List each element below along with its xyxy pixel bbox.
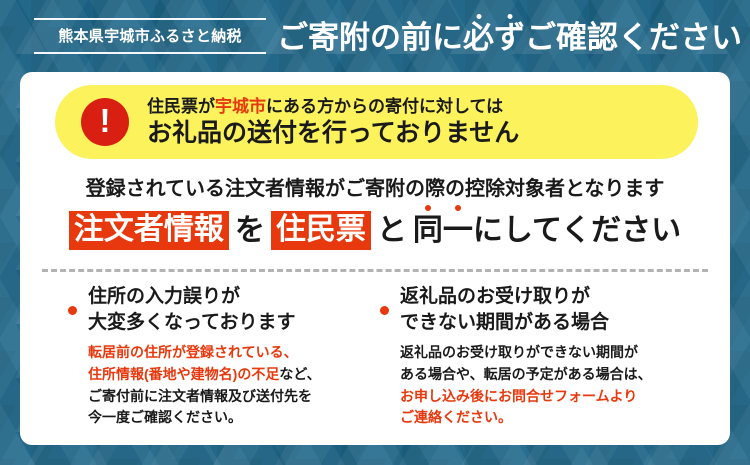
alert-line-1-highlight: 宇城市 [215, 97, 266, 116]
alert-line-1-pre: 住民票が [147, 97, 215, 116]
header-rule-bottom [34, 52, 266, 54]
notice-detail-line: ご連絡ください。 [400, 407, 730, 429]
notice-detail-text: ご連絡ください。 [400, 409, 512, 425]
notice-detail-text: 返礼品のお受け取りができない期間が [400, 344, 638, 360]
page-title-emphasis-1: 必 [463, 22, 494, 53]
notice-detail-suffix: など、 [279, 366, 320, 382]
bullet-dot-icon [68, 306, 77, 315]
notice-detail-text: ご寄付前に注文者情報及び送付先を [88, 388, 312, 404]
notice-detail-text: 住所情報(番地や建物名)の不足 [88, 366, 279, 382]
notice-column-address-error: 住所の入力誤りが 大変多くなっております 転居前の住所が登録されている、 住所情… [20, 284, 372, 429]
notice-detail-text: お申し込み後にお問合せフォームより [400, 388, 637, 404]
notice-detail-text: ある場合や、転居の予定がある場合は、 [400, 366, 652, 382]
page-title-pre: ご寄附の前に [277, 20, 463, 55]
notice-heading-line-2: できない期間がある場合 [400, 310, 730, 336]
notice-detail-text: 今一度ご確認ください。 [88, 409, 242, 425]
statement-group: 登録されている注文者情報がご寄附の際の控除対象者となります 注文者情報を住民票と… [20, 172, 730, 250]
page-title-emphasis-2: ず [494, 22, 525, 53]
alert-line-1: 住民票が宇城市にある方からの寄付に対しては [147, 96, 519, 117]
statement-tail-pre: と [371, 214, 413, 247]
notice-detail-line: ご寄付前に注文者情報及び送付先を [88, 386, 372, 408]
statement-highlight-box-1: 注文者情報 [69, 211, 229, 250]
content-card: ! 住民票が宇城市にある方からの寄付に対しては お礼品の送付を行っておりません … [20, 72, 730, 445]
exclamation-icon: ! [81, 98, 129, 146]
alert-banner: ! 住民票が宇城市にある方からの寄付に対しては お礼品の送付を行っておりません [55, 85, 698, 159]
notice-column-body: 返礼品のお受け取りが できない期間がある場合 返礼品のお受け取りができない期間が… [400, 284, 730, 429]
page-title: ご寄附の前に必ずご確認ください [277, 22, 742, 53]
page-title-post: ご確認ください [525, 20, 742, 55]
alert-text-group: 住民票が宇城市にある方からの寄付に対しては お礼品の送付を行っておりません [147, 96, 519, 148]
notice-heading: 返礼品のお受け取りが できない期間がある場合 [400, 284, 730, 335]
notice-detail-line: 返礼品のお受け取りができない期間が [400, 342, 730, 364]
notice-detail-line: 今一度ご確認ください。 [88, 407, 372, 429]
statement-highlight-box-2: 住民票 [271, 211, 371, 250]
notice-column-body: 住所の入力誤りが 大変多くなっております 転居前の住所が登録されている、 住所情… [88, 284, 372, 429]
header: 熊本県宇城市ふるさと納税 ご寄附の前に必ずご確認ください [0, 0, 750, 72]
alert-line-1-post: にある方からの寄付に対しては [266, 97, 503, 116]
notice-column-delivery-period: 返礼品のお受け取りが できない期間がある場合 返礼品のお受け取りができない期間が… [372, 284, 730, 429]
notice-detail-line: お申し込み後にお問合せフォームより [400, 386, 730, 408]
statement-tail-post: にしてください [473, 214, 681, 247]
statement-emphasis-2: 一 [443, 214, 473, 247]
header-subtitle-group: 熊本県宇城市ふるさと納税 [34, 18, 266, 54]
notice-detail-text: 転居前の住所が登録されている、 [88, 344, 298, 360]
notice-detail-line: 転居前の住所が登録されている、 [88, 342, 372, 364]
notice-banner: 熊本県宇城市ふるさと納税 ご寄附の前に必ずご確認ください ! 住民票が宇城市にあ… [0, 0, 750, 465]
notice-heading-line-1: 返礼品のお受け取りが [400, 284, 730, 310]
notice-heading-line-2: 大変多くなっております [88, 310, 372, 336]
header-rule-top [34, 18, 266, 20]
bullet-dot-icon [380, 306, 389, 315]
section-divider [42, 269, 708, 272]
statement-line-2: 注文者情報を住民票と同一にしてください [20, 211, 730, 250]
statement-conjunction: を [229, 214, 271, 247]
statement-emphasis-1: 同 [413, 214, 443, 247]
notice-detail-line: 住所情報(番地や建物名)の不足など、 [88, 364, 372, 386]
notice-detail: 返礼品のお受け取りができない期間が ある場合や、転居の予定がある場合は、 お申し… [400, 342, 730, 429]
alert-line-2: お礼品の送付を行っておりません [147, 118, 519, 148]
notice-columns: 住所の入力誤りが 大変多くなっております 転居前の住所が登録されている、 住所情… [20, 284, 730, 429]
statement-line-1: 登録されている注文者情報がご寄附の際の控除対象者となります [20, 172, 730, 201]
notice-heading-line-1: 住所の入力誤りが [88, 284, 372, 310]
header-subtitle: 熊本県宇城市ふるさと納税 [58, 20, 242, 52]
notice-heading: 住所の入力誤りが 大変多くなっております [88, 284, 372, 335]
notice-detail: 転居前の住所が登録されている、 住所情報(番地や建物名)の不足など、 ご寄付前に… [88, 342, 372, 429]
notice-detail-line: ある場合や、転居の予定がある場合は、 [400, 364, 730, 386]
